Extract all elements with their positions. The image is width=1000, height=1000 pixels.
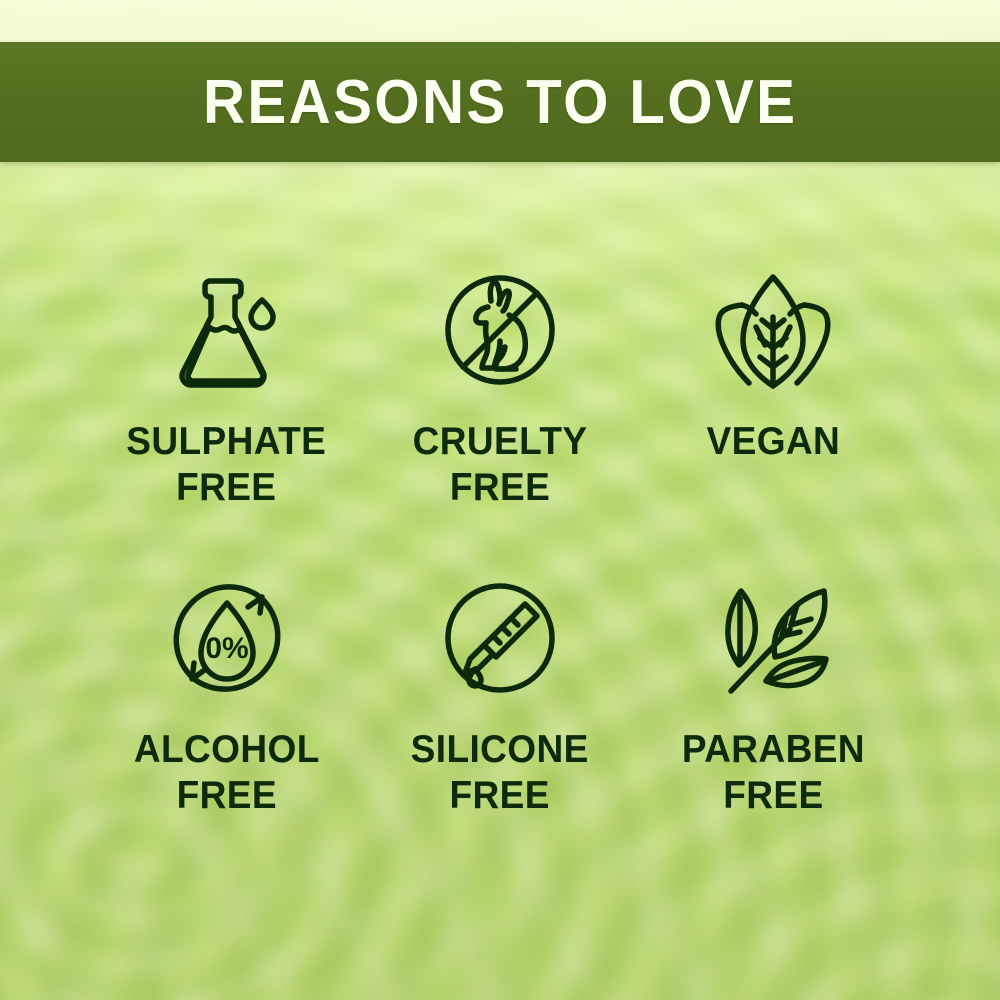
badge-label: SULPHATE FREE [127, 419, 327, 511]
badge-label-line1: PARABEN [682, 728, 865, 771]
badge-label: SILICONE FREE [411, 727, 589, 819]
zero-percent-droplet-icon: 0% [152, 563, 302, 713]
badge-label: ALCOHOL FREE [134, 727, 320, 819]
reasons-to-love-infographic: REASONS TO LOVE SULPHATE FREE [0, 0, 1000, 1000]
dropper-pipette-circle-icon [425, 563, 575, 713]
droplet-zero-percent-text: 0% [205, 632, 248, 665]
badge-label-line1: SULPHATE [127, 420, 327, 463]
badge-label: PARABEN FREE [682, 727, 865, 819]
badge-label-line2: FREE [134, 773, 320, 819]
badge-silicone-free: SILICONE FREE [363, 563, 636, 845]
badge-label-line2: FREE [411, 773, 589, 819]
badge-label-line1: VEGAN [706, 420, 840, 463]
badge-label-line2: FREE [413, 465, 588, 511]
header-banner: REASONS TO LOVE [0, 42, 1000, 162]
badge-label-line1: ALCOHOL [134, 728, 320, 771]
page-title: REASONS TO LOVE [203, 67, 797, 138]
benefits-grid: SULPHATE FREE CRUELTY FREE [90, 255, 910, 845]
flask-droplet-icon [152, 255, 302, 405]
badge-label-line1: SILICONE [411, 728, 589, 771]
badge-label: CRUELTY FREE [413, 419, 588, 511]
badge-sulphate-free: SULPHATE FREE [90, 255, 363, 537]
badge-label-line2: FREE [682, 773, 865, 819]
badge-label-line1: CRUELTY [413, 420, 588, 463]
badge-alcohol-free: 0% ALCOHOL FREE [90, 563, 363, 845]
badge-label: VEGAN [706, 419, 840, 465]
badge-label-line2: FREE [127, 465, 327, 511]
badge-cruelty-free: CRUELTY FREE [363, 255, 636, 537]
badge-vegan: VEGAN [637, 255, 910, 537]
no-animal-testing-rabbit-icon [425, 255, 575, 405]
three-leaves-icon [698, 255, 848, 405]
badge-paraben-free: PARABEN FREE [637, 563, 910, 845]
leaf-sprig-branch-icon [698, 563, 848, 713]
